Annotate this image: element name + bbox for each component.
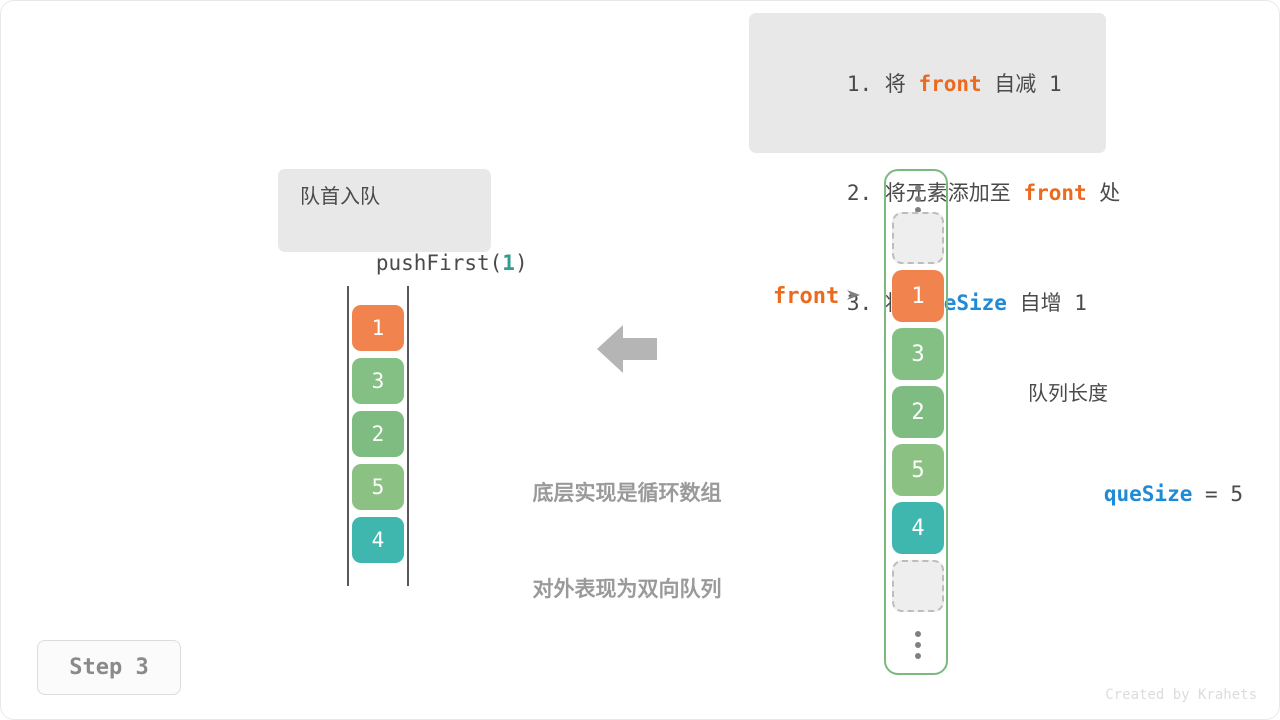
circular-cell: 5 xyxy=(892,444,944,496)
operation-step-1-suffix: 自减 1 xyxy=(982,72,1062,96)
linear-cell: 2 xyxy=(352,411,404,457)
linear-cell: 3 xyxy=(352,358,404,404)
array-rail-right xyxy=(407,286,409,586)
circular-cell-list: 13254 xyxy=(892,212,944,618)
operation-call-arg: 1 xyxy=(502,251,515,275)
queue-size-equals: = xyxy=(1192,482,1230,506)
circular-cell: 2 xyxy=(892,386,944,438)
diagram-canvas: 1. 将 front 自减 1 2. 将元素添加至 front 处 3. 将 q… xyxy=(0,0,1280,720)
operation-call-prefix: pushFirst( xyxy=(376,251,502,275)
linear-cell: 1 xyxy=(352,305,404,351)
operation-steps-panel: 1. 将 front 自减 1 2. 将元素添加至 front 处 3. 将 q… xyxy=(749,13,1106,153)
center-caption: 底层实现是循环数组 对外表现为双向队列 xyxy=(504,414,750,670)
queue-size-expression: queSize = 5 xyxy=(1028,446,1243,542)
front-pointer-label: front xyxy=(773,284,839,309)
linear-cell-list: 13254 xyxy=(352,305,404,570)
linear-cell: 5 xyxy=(352,464,404,510)
deque-linear-view: 13254 xyxy=(347,286,409,586)
credit-text: Created by Krahets xyxy=(1105,687,1257,703)
arrow-right-icon xyxy=(846,288,862,306)
operation-step-3-suffix: 自增 1 xyxy=(1007,291,1087,315)
operation-label-title: 队首入队 xyxy=(300,181,491,214)
operation-step-1: 1. 将 front 自减 1 xyxy=(771,29,1106,139)
circular-array-view: 13254 xyxy=(884,169,948,675)
ellipsis-top-icon xyxy=(886,185,950,213)
queue-size-title: 队列长度 xyxy=(1028,378,1243,410)
circular-cell: 4 xyxy=(892,502,944,554)
queue-size-varname: queSize xyxy=(1104,482,1193,506)
circular-cell-empty xyxy=(892,212,944,264)
left-arrow-icon xyxy=(597,323,657,375)
operation-step-2-code: front xyxy=(1023,181,1086,205)
operation-call-suffix: ) xyxy=(515,251,528,275)
circular-cell: 1 xyxy=(892,270,944,322)
queue-size-value: 5 xyxy=(1230,482,1243,506)
queue-size-note: 队列长度 queSize = 5 xyxy=(1028,342,1243,578)
circular-cell: 3 xyxy=(892,328,944,380)
operation-step-1-code: front xyxy=(918,72,981,96)
linear-cell: 4 xyxy=(352,517,404,563)
front-pointer: front xyxy=(773,284,862,309)
operation-label-box: 队首入队 pushFirst(1) xyxy=(278,169,491,252)
center-caption-line1: 底层实现是循环数组 xyxy=(504,478,750,510)
center-caption-line2: 对外表现为双向队列 xyxy=(504,574,750,606)
circular-cell-empty xyxy=(892,560,944,612)
operation-step-2-suffix: 处 xyxy=(1087,181,1121,205)
operation-step-1-prefix: 1. 将 xyxy=(847,72,919,96)
step-badge: Step 3 xyxy=(37,640,181,695)
ellipsis-bottom-icon xyxy=(886,631,950,659)
array-rail-left xyxy=(347,286,349,586)
